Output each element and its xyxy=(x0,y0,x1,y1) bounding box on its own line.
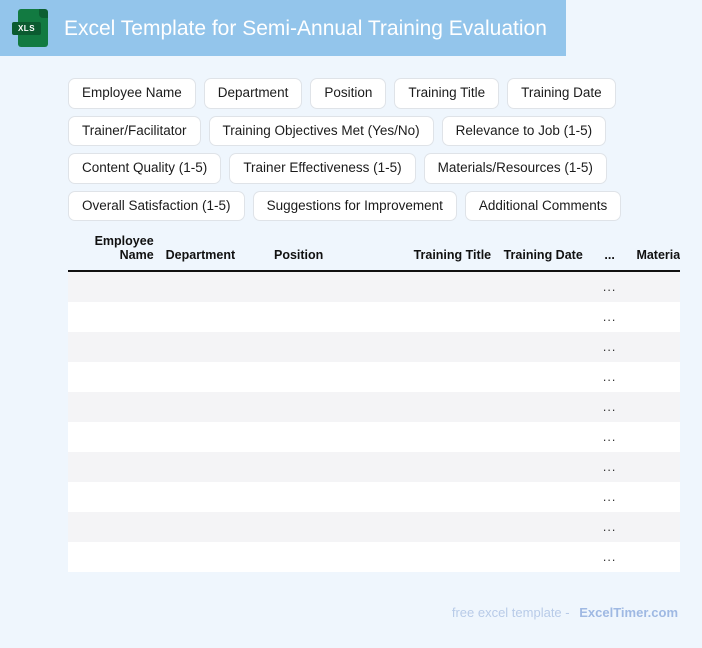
table-header-row: Employee Name Department Position Traini… xyxy=(68,228,680,271)
table-cell xyxy=(630,512,680,542)
table-cell xyxy=(380,332,497,362)
table-header-training-date: Training Date xyxy=(497,228,589,271)
table-cell xyxy=(630,542,680,572)
table-header-ellipsis: ... xyxy=(589,228,631,271)
footer-text: free excel template - xyxy=(452,605,570,620)
table-cell xyxy=(380,482,497,512)
header-banner: XLS Excel Template for Semi-Annual Train… xyxy=(0,0,566,56)
table-cell xyxy=(268,271,380,302)
table-cell xyxy=(160,482,268,512)
template-preview-table: Employee Name Department Position Traini… xyxy=(68,228,680,572)
table-cell xyxy=(68,482,160,512)
xls-file-icon: XLS xyxy=(18,9,48,47)
table-header-department: Department xyxy=(160,228,268,271)
table-cell xyxy=(380,422,497,452)
table-cell xyxy=(630,482,680,512)
table-cell: ... xyxy=(589,512,631,542)
table-cell xyxy=(68,512,160,542)
table-body: .............................. xyxy=(68,271,680,572)
table-cell xyxy=(68,452,160,482)
table-cell xyxy=(160,422,268,452)
table-cell xyxy=(268,332,380,362)
table-cell xyxy=(160,512,268,542)
table-header-employee-name: Employee Name xyxy=(68,228,160,271)
field-pill-training-date[interactable]: Training Date xyxy=(507,78,616,109)
field-pill-area: Employee Name Department Position Traini… xyxy=(68,78,652,228)
table-cell xyxy=(497,422,589,452)
footer-brand-link[interactable]: ExcelTimer.com xyxy=(579,605,678,620)
table-cell xyxy=(160,392,268,422)
table-cell xyxy=(630,302,680,332)
field-pill-overall-satisfaction[interactable]: Overall Satisfaction (1-5) xyxy=(68,191,245,222)
table-cell xyxy=(68,542,160,572)
table-cell xyxy=(160,302,268,332)
table-cell xyxy=(497,271,589,302)
table-row: ... xyxy=(68,482,680,512)
table-row: ... xyxy=(68,362,680,392)
table-cell xyxy=(497,512,589,542)
field-pill-row-4: Overall Satisfaction (1-5) Suggestions f… xyxy=(68,191,652,222)
table-cell xyxy=(268,542,380,572)
table-cell xyxy=(160,332,268,362)
table-cell xyxy=(160,362,268,392)
table-cell xyxy=(160,271,268,302)
field-pill-materials-resources[interactable]: Materials/Resources (1-5) xyxy=(424,153,607,184)
field-pill-row-1: Employee Name Department Position Traini… xyxy=(68,78,652,109)
table-row: ... xyxy=(68,422,680,452)
table-row: ... xyxy=(68,512,680,542)
table-cell xyxy=(380,362,497,392)
table-cell xyxy=(268,362,380,392)
table-cell xyxy=(68,302,160,332)
table-cell xyxy=(380,302,497,332)
table-row: ... xyxy=(68,392,680,422)
table-row: ... xyxy=(68,332,680,362)
table-cell xyxy=(630,452,680,482)
table-row: ... xyxy=(68,452,680,482)
page-title: Excel Template for Semi-Annual Training … xyxy=(64,18,547,39)
table-cell xyxy=(630,362,680,392)
table-cell xyxy=(497,452,589,482)
table-cell xyxy=(160,452,268,482)
field-pill-row-2: Trainer/Facilitator Training Objectives … xyxy=(68,116,652,147)
table-cell xyxy=(68,271,160,302)
table-cell xyxy=(268,482,380,512)
field-pill-training-objectives-met[interactable]: Training Objectives Met (Yes/No) xyxy=(209,116,434,147)
field-pill-employee-name[interactable]: Employee Name xyxy=(68,78,196,109)
table-cell xyxy=(380,512,497,542)
field-pill-trainer-effectiveness[interactable]: Trainer Effectiveness (1-5) xyxy=(229,153,415,184)
table-cell xyxy=(68,332,160,362)
table-cell xyxy=(68,392,160,422)
table-cell xyxy=(268,392,380,422)
table-cell xyxy=(68,422,160,452)
table-cell xyxy=(380,542,497,572)
table-cell xyxy=(630,422,680,452)
table-row: ... xyxy=(68,302,680,332)
table-cell: ... xyxy=(589,542,631,572)
table-header-position: Position xyxy=(268,228,380,271)
table-row: ... xyxy=(68,271,680,302)
table-cell: ... xyxy=(589,482,631,512)
table-header-training-title: Training Title xyxy=(380,228,497,271)
table-row: ... xyxy=(68,542,680,572)
field-pill-relevance-to-job[interactable]: Relevance to Job (1-5) xyxy=(442,116,607,147)
footer-attribution: free excel template - ExcelTimer.com xyxy=(452,605,678,620)
table-cell xyxy=(68,362,160,392)
table-cell xyxy=(497,302,589,332)
table-cell: ... xyxy=(589,452,631,482)
table-cell xyxy=(380,392,497,422)
xls-icon-fold xyxy=(39,9,48,18)
table-cell xyxy=(268,422,380,452)
table-cell xyxy=(497,482,589,512)
field-pill-additional-comments[interactable]: Additional Comments xyxy=(465,191,621,222)
table-cell: ... xyxy=(589,302,631,332)
table-cell: ... xyxy=(589,362,631,392)
field-pill-suggestions-for-improvement[interactable]: Suggestions for Improvement xyxy=(253,191,457,222)
field-pill-trainer-facilitator[interactable]: Trainer/Facilitator xyxy=(68,116,201,147)
table-cell xyxy=(380,452,497,482)
field-pill-content-quality[interactable]: Content Quality (1-5) xyxy=(68,153,221,184)
field-pill-training-title[interactable]: Training Title xyxy=(394,78,499,109)
table-cell: ... xyxy=(589,422,631,452)
table-cell xyxy=(268,512,380,542)
table-header-materials: Materials/Re xyxy=(630,228,680,271)
table-cell xyxy=(268,302,380,332)
table-cell: ... xyxy=(589,271,631,302)
table-cell: ... xyxy=(589,332,631,362)
table-cell xyxy=(497,332,589,362)
field-pill-row-3: Content Quality (1-5) Trainer Effectiven… xyxy=(68,153,652,184)
table-cell xyxy=(160,542,268,572)
table-cell xyxy=(630,392,680,422)
table-cell xyxy=(497,542,589,572)
table-cell: ... xyxy=(589,392,631,422)
xls-icon-label: XLS xyxy=(12,22,41,35)
table-cell xyxy=(380,271,497,302)
field-pill-department[interactable]: Department xyxy=(204,78,303,109)
table-cell xyxy=(630,332,680,362)
table-cell xyxy=(630,271,680,302)
table-cell xyxy=(497,362,589,392)
table-cell xyxy=(497,392,589,422)
field-pill-position[interactable]: Position xyxy=(310,78,386,109)
table-cell xyxy=(268,452,380,482)
